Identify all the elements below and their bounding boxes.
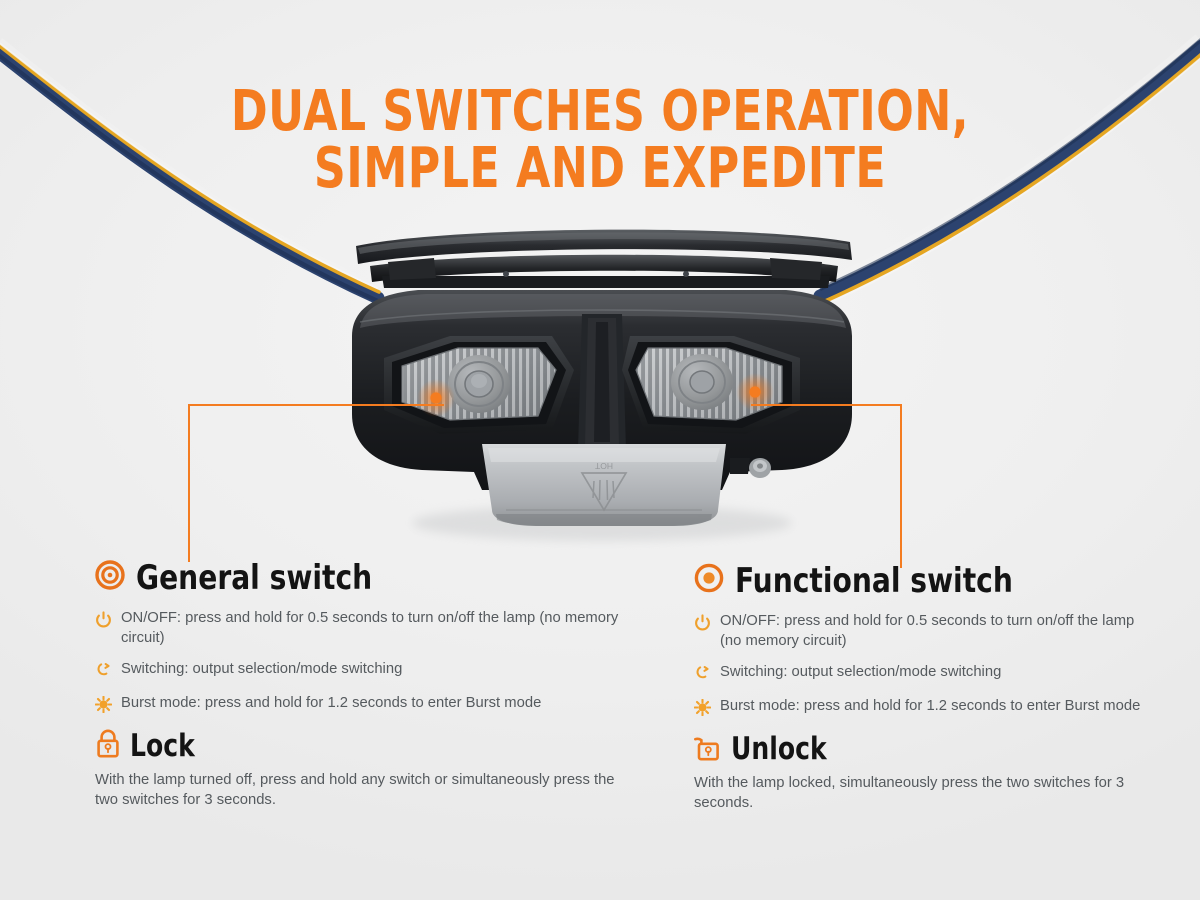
unlock-description: With the lamp locked, simultaneously pre… — [694, 773, 1154, 813]
cycle-arrow-icon — [95, 662, 112, 682]
cycle-arrow-icon — [694, 665, 711, 685]
bullet-text: Burst mode: press and hold for 1.2 secon… — [121, 693, 541, 713]
functional-switch-header: Functional switch — [694, 563, 1154, 598]
headline-block: DUAL SWITCHES OPERATION, SIMPLE AND EXPE… — [0, 86, 1200, 194]
bullet-text: Burst mode: press and hold for 1.2 secon… — [720, 696, 1140, 716]
target-bullseye-icon — [694, 563, 724, 598]
callout-connector-right — [748, 398, 913, 573]
general-switch-column: General switch ON/OFF: press and hold fo… — [95, 560, 635, 810]
bullet-item: Burst mode: press and hold for 1.2 secon… — [95, 693, 635, 718]
bullet-text: Switching: output selection/mode switchi… — [720, 662, 1001, 682]
unlock-title: Unlock — [731, 734, 827, 765]
functional-switch-column: Functional switch ON/OFF: press and hold… — [694, 563, 1154, 813]
target-ring-icon — [95, 560, 125, 595]
bullet-item: ON/OFF: press and hold for 0.5 seconds t… — [694, 611, 1154, 651]
bullet-text: ON/OFF: press and hold for 0.5 seconds t… — [121, 608, 635, 648]
svg-text:HOT: HOT — [595, 461, 613, 471]
headline-line-2: SIMPLE AND EXPEDITE — [72, 143, 1128, 195]
bullet-item: Switching: output selection/mode switchi… — [95, 659, 635, 682]
lock-title: Lock — [130, 731, 195, 762]
lock-open-icon — [694, 732, 722, 767]
bullet-text: ON/OFF: press and hold for 0.5 seconds t… — [720, 611, 1154, 651]
power-icon — [694, 614, 711, 636]
general-switch-header: General switch — [95, 560, 635, 595]
unlock-header: Unlock — [694, 732, 1154, 767]
bullet-item: Switching: output selection/mode switchi… — [694, 662, 1154, 685]
general-switch-bullets: ON/OFF: press and hold for 0.5 seconds t… — [95, 608, 635, 718]
infographic-canvas: HOT DUAL SWITCHES OPER — [0, 0, 1200, 900]
lock-block: Lock With the lamp turned off, press and… — [95, 729, 635, 810]
unlock-block: Unlock With the lamp locked, simultaneou… — [694, 732, 1154, 813]
functional-switch-bullets: ON/OFF: press and hold for 0.5 seconds t… — [694, 611, 1154, 721]
callout-connector-left — [182, 398, 452, 568]
lock-closed-icon — [95, 729, 121, 764]
headline-line-1: DUAL SWITCHES OPERATION, — [72, 86, 1128, 138]
sunburst-icon — [95, 696, 112, 718]
bullet-item: ON/OFF: press and hold for 0.5 seconds t… — [95, 608, 635, 648]
bullet-text: Switching: output selection/mode switchi… — [121, 659, 402, 679]
lock-header: Lock — [95, 729, 635, 764]
bullet-item: Burst mode: press and hold for 1.2 secon… — [694, 696, 1154, 721]
functional-switch-title: Functional switch — [735, 564, 1013, 598]
sunburst-icon — [694, 699, 711, 721]
power-icon — [95, 611, 112, 633]
general-switch-title: General switch — [136, 561, 372, 595]
lock-description: With the lamp turned off, press and hold… — [95, 770, 635, 810]
